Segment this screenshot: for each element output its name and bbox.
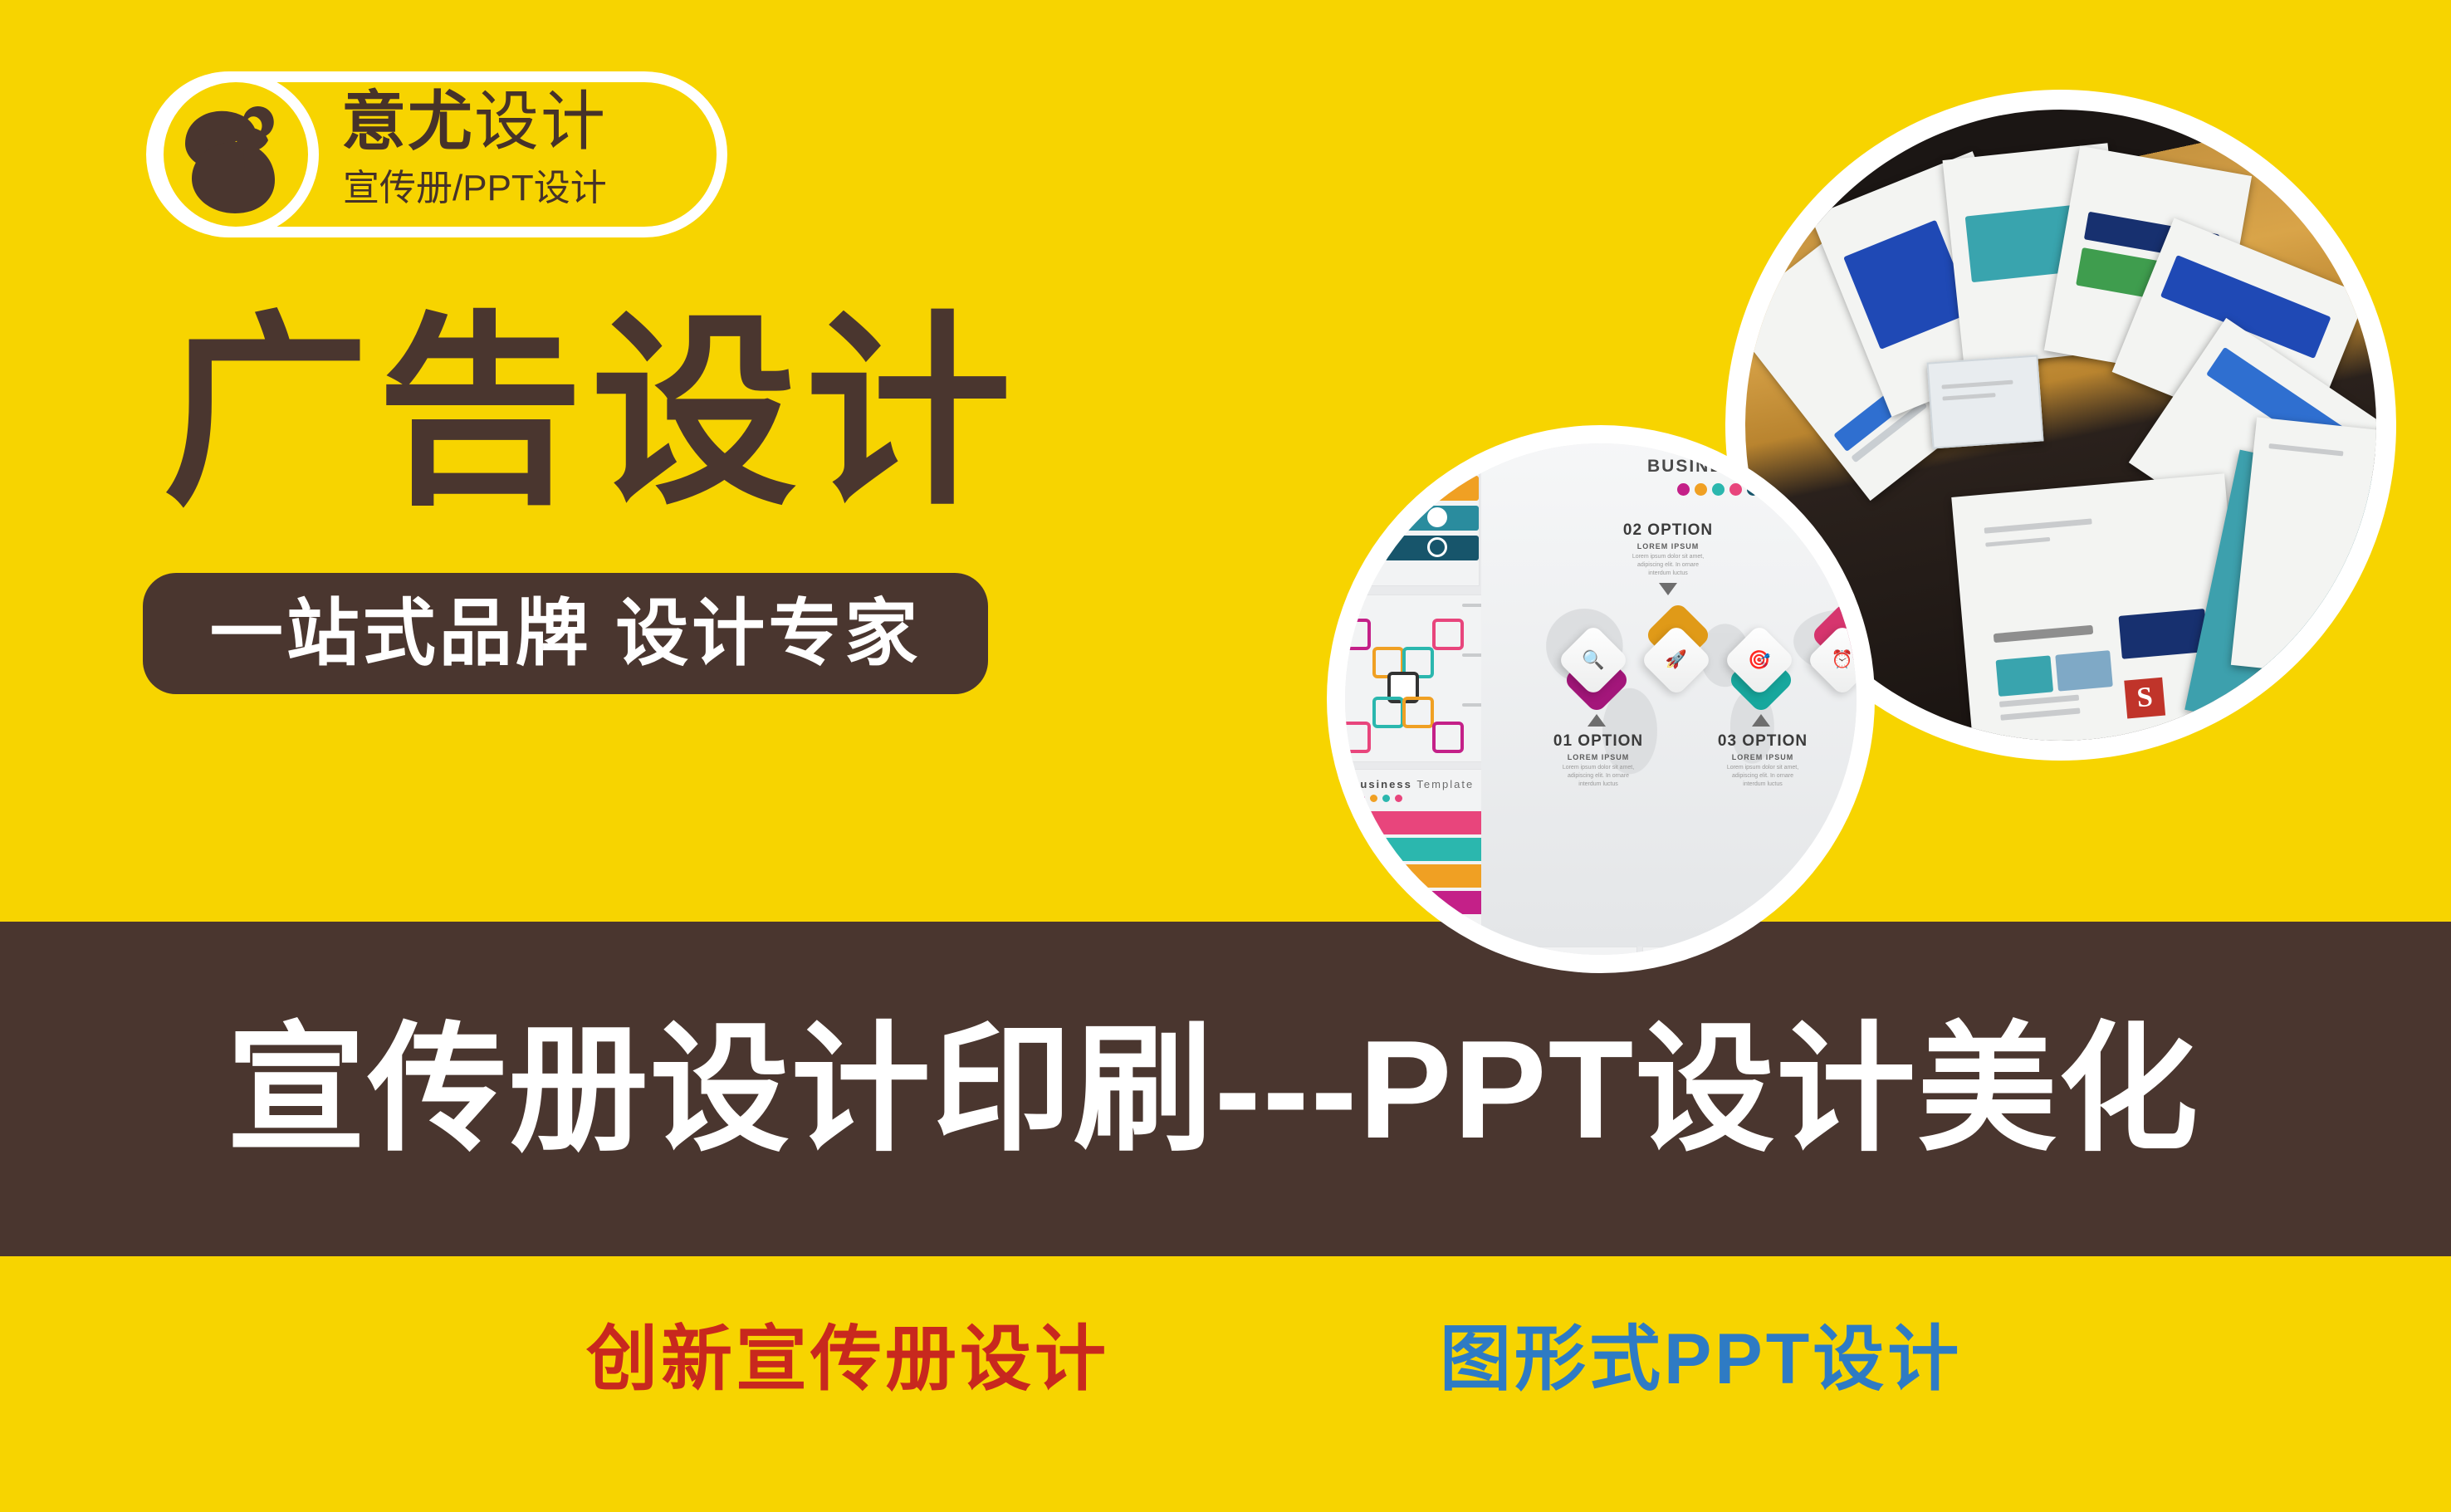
- magnifier-icon: 🔍: [1582, 649, 1604, 671]
- yiyou-bird-leaf-icon: [172, 92, 298, 218]
- ppt-option-02: 02 OPTION LOREM IPSUM Lorem ipsum dolor …: [1597, 521, 1739, 578]
- brochure-sheet: [2231, 417, 2376, 682]
- logo-text-block: 意尤设计 宣传册/PPT设计: [341, 81, 731, 230]
- thumb-business-map: Busines: [1823, 947, 1857, 955]
- ppt-palette-dots: [1677, 483, 1759, 496]
- stamp-icon: S: [2124, 678, 2165, 719]
- promotional-banner: S: [0, 0, 2451, 1512]
- footer-bar: 创新宣传册设计 图形式PPT设计: [0, 1256, 2451, 1512]
- service-band-label: 宣传册设计印刷---PPT设计美化: [227, 1010, 2200, 1168]
- thumb-ribbon-steps: [1345, 443, 1480, 586]
- logo-tagline: 宣传册/PPT设计: [343, 167, 607, 210]
- target-icon: 🎯: [1748, 649, 1770, 671]
- photo-circle-ppt-templates: Business Template BUSINESS TEMPLATE: [1327, 425, 1875, 973]
- logo-badge: 意尤设计 宣传册/PPT设计: [146, 71, 727, 237]
- footer-label-ppt: 图形式PPT设计: [1440, 1318, 1962, 1401]
- ppt-template-photo-inner: Business Template BUSINESS TEMPLATE: [1345, 443, 1857, 955]
- ppt-main-slide: BUSINESS TEMPLATE 02 OPTION LOREM IPSUM …: [1481, 443, 1857, 947]
- ppt-option-03: 03 OPTION LOREM IPSUM Lorem ipsum dolor …: [1692, 732, 1833, 789]
- ppt-option-04: 04 OPTION LOREM IPSUM Lorem ipsum dolor …: [1805, 521, 1857, 578]
- thumb-four-step-cards: Business Template: [1642, 947, 1818, 955]
- footer-label-brochure: 创新宣传册设计: [586, 1318, 1109, 1401]
- clock-icon: ⏰: [1832, 650, 1853, 670]
- service-band: 宣传册设计印刷---PPT设计美化: [0, 922, 2451, 1256]
- logo-circle-frame: [153, 71, 319, 237]
- ppt-diamond-02: 🚀: [1640, 624, 1713, 697]
- ppt-option-01: 01 OPTION LOREM IPSUM Lorem ipsum dolor …: [1528, 732, 1669, 789]
- page-title: 广告设计: [163, 306, 1020, 520]
- thumb-world-map-small: BUSINESS TEMPLATE 04 OPTION: [1345, 952, 1450, 955]
- logo-company-name: 意尤设计: [341, 84, 607, 159]
- rocket-icon: 🚀: [1666, 650, 1687, 670]
- tagline-pill: 一站式品牌 设计专家: [143, 573, 988, 694]
- thumb-hexagon-cycle: BUSINESS TEMPLATE: [1455, 947, 1637, 955]
- ppt-diamond-03: 🎯: [1723, 624, 1796, 697]
- ppt-diamond-01: 🔍: [1557, 624, 1630, 697]
- business-card-holder: [1927, 355, 2044, 448]
- ppt-main-title: BUSINESS TEMPLATE: [1647, 457, 1857, 477]
- tagline-pill-label: 一站式品牌 设计专家: [210, 594, 921, 673]
